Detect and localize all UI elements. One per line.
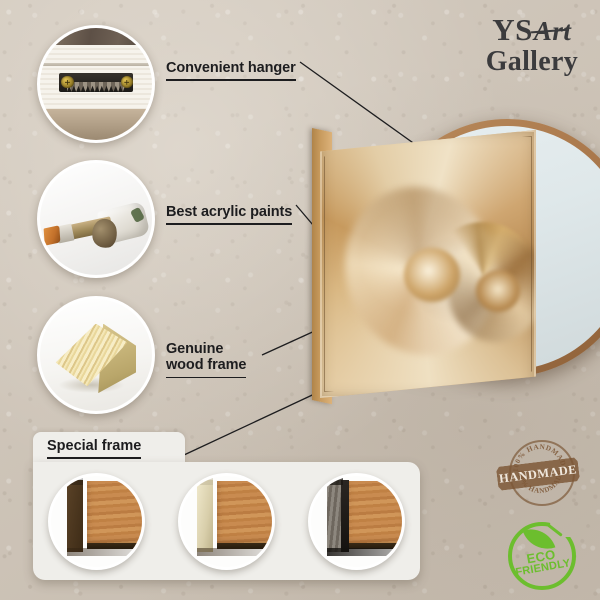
swatch-edge-top-1 [67,478,82,485]
swatch-bottom-shadow-2 [197,548,264,556]
screw-left-icon [61,76,73,88]
brand-logo-line2: Gallery [486,48,578,76]
frame-swatch-dark-brown[interactable] [48,473,145,570]
swatch-edge-dark-strip-3 [341,480,349,553]
feature-label-paints-underline [166,223,292,225]
feature-label-wood-frame: Genuine wood frame [166,325,246,395]
brand-logo: YSArt Gallery [486,14,578,76]
special-frame-label: Special frame [47,438,141,459]
special-frame-label-text: Special frame [47,438,141,454]
hanger-photo-top-band [40,28,152,45]
swatch-edge-profile-2 [197,480,212,553]
feature-thumb-paints[interactable] [37,160,155,278]
feature-label-hanger-text: Convenient hanger [166,60,296,76]
pine-wood-wedge-icon [40,299,152,411]
paintbrush-icon [40,163,152,275]
frame-swatch-cream[interactable] [178,473,275,570]
swatch-edge-profile-1 [67,480,82,553]
brand-logo-ys: YS [492,12,533,47]
feature-thumb-hanger[interactable] [37,25,155,143]
feature-thumb-wood-frame[interactable] [37,296,155,414]
paint-tube-green-label [130,206,145,223]
swatch-bottom-shadow-1 [67,548,134,556]
feature-label-hanger-underline [166,79,296,81]
brush-bristles [44,225,61,245]
feature-label-wood-frame-text: Genuine wood frame [166,341,246,373]
sawtooth-hanger-icon [40,28,152,140]
eco-friendly-badge: ECO FRIENDLY [506,520,578,592]
hanger-photo-lower-band [40,109,152,140]
artwork-hero[interactable] [300,110,600,410]
frame-swatch-charcoal[interactable] [308,473,405,570]
infographic-canvas: YSArt Gallery [0,0,600,600]
swatch-wood-rail-1 [87,481,145,548]
swatch-edge-top-3 [327,478,342,485]
swatch-edge-top-2 [197,478,212,485]
hanger-photo-groove [40,63,152,66]
feature-label-hanger: Convenient hanger [166,44,296,97]
feature-label-wood-frame-underline [166,377,246,379]
swatch-wood-rail-2 [217,481,275,548]
swatch-bottom-shadow-3 [327,548,394,556]
handmade-stamp-badge: 100% HANDMADE 100% HANDMADE HANDMADE [497,446,579,504]
brand-logo-art: Art [534,16,572,46]
swatch-wood-rail-3 [347,481,405,548]
brand-logo-line1: YSArt [486,14,578,45]
special-frame-label-underline [47,457,141,459]
feature-label-paints: Best acrylic paints [166,188,292,241]
feature-label-paints-text: Best acrylic paints [166,204,292,220]
canvas-inner-edge-line [324,136,532,392]
